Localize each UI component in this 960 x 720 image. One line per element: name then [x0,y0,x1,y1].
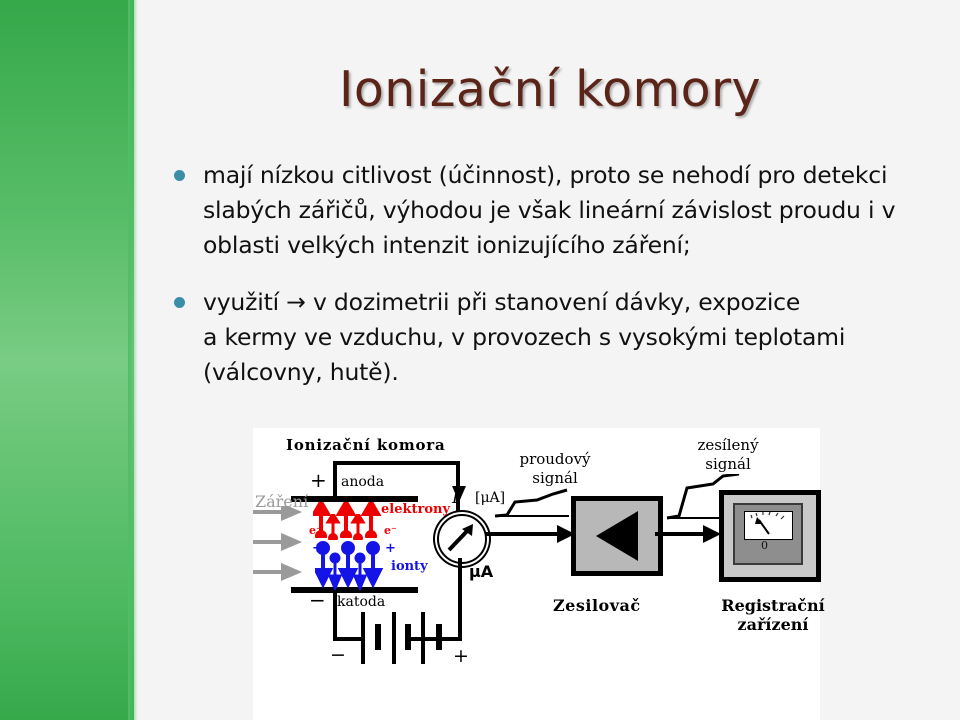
battery-plate-long-1 [361,612,365,664]
anode-sign-label: + [310,468,327,492]
accent-band-green [0,0,134,720]
recording-device-block: 0 [719,490,821,582]
battery-plate-long-2 [392,612,396,664]
bullet-text: využití → v dozimetrii při stanovení dáv… [203,288,845,386]
battery-minus-label: − [330,644,346,666]
ions-label: ionty [391,559,428,574]
amplified-signal-label: zesílený signál [673,436,783,474]
battery-plate-short-1 [375,624,381,650]
bullet-dot-icon [174,170,185,181]
battery-plus-wire [408,637,462,641]
amplifier-to-recorder-arrow-icon [655,521,723,547]
electron-arrows-secondary-icon [325,514,387,540]
ion-symbol-right: + [385,541,396,556]
ion-arrows-secondary-icon [327,552,389,590]
battery-plate-short-2 [405,624,411,650]
gauge-zero-label: 0 [761,539,768,552]
list-item: mají nízkou citlivost (účinnost), proto … [168,158,938,263]
cathode-sign-label: − [309,588,326,612]
electron-symbol-right: e⁻ [384,524,397,537]
anode-riser-wire [333,461,337,497]
accent-band-fade [128,0,138,720]
cathode-drop-wire [333,587,337,641]
amplifier-triangle-icon [596,511,638,561]
radiation-label: Záření [255,492,308,511]
anode-top-wire [333,461,458,465]
current-symbol-label: I [452,488,459,508]
battery-minus-wire [333,637,363,641]
anode-label: anoda [341,474,384,490]
amplifier-label: Zesilovač [553,596,641,615]
electron-symbol-left: e⁻ [309,524,322,537]
battery-plus-label: + [453,645,469,667]
bullet-text: mají nízkou citlivost (účinnost), proto … [203,161,895,259]
battery-plate-long-3 [421,612,425,664]
bullet-list: mají nízkou citlivost (účinnost), proto … [168,158,938,412]
electrons-label: elektrony [381,502,450,517]
bullet-dot-icon [174,297,185,308]
presentation-slide: Ionizační komory mají nízkou citlivost (… [0,0,960,720]
ion-symbol-left: + [312,541,323,556]
cathode-label: katoda [337,594,385,610]
current-signal-label: proudový signál [495,450,615,488]
ionization-chamber-diagram: Ionizační komora anoda katoda + − I [μA]… [253,428,820,720]
battery-plate-short-3 [436,624,442,650]
microammeter-label: μA [469,562,493,581]
list-item: využití → v dozimetrii při stanovení dáv… [168,285,938,390]
meter-to-amplifier-arrow-icon [485,521,577,547]
meter-output-wire [458,558,462,641]
page-title: Ionizační komory [170,62,930,118]
amplifier-block [571,496,663,576]
microammeter-icon [437,514,487,564]
gauge-display-icon [744,511,793,540]
radiation-arrows-icon [253,506,303,582]
recording-device-screen-bezel: 0 [733,503,803,565]
recording-device-label: Registrační zařízení [708,596,838,634]
diagram-title: Ionizační komora [286,436,446,454]
current-signal-waveform-icon [493,488,573,518]
